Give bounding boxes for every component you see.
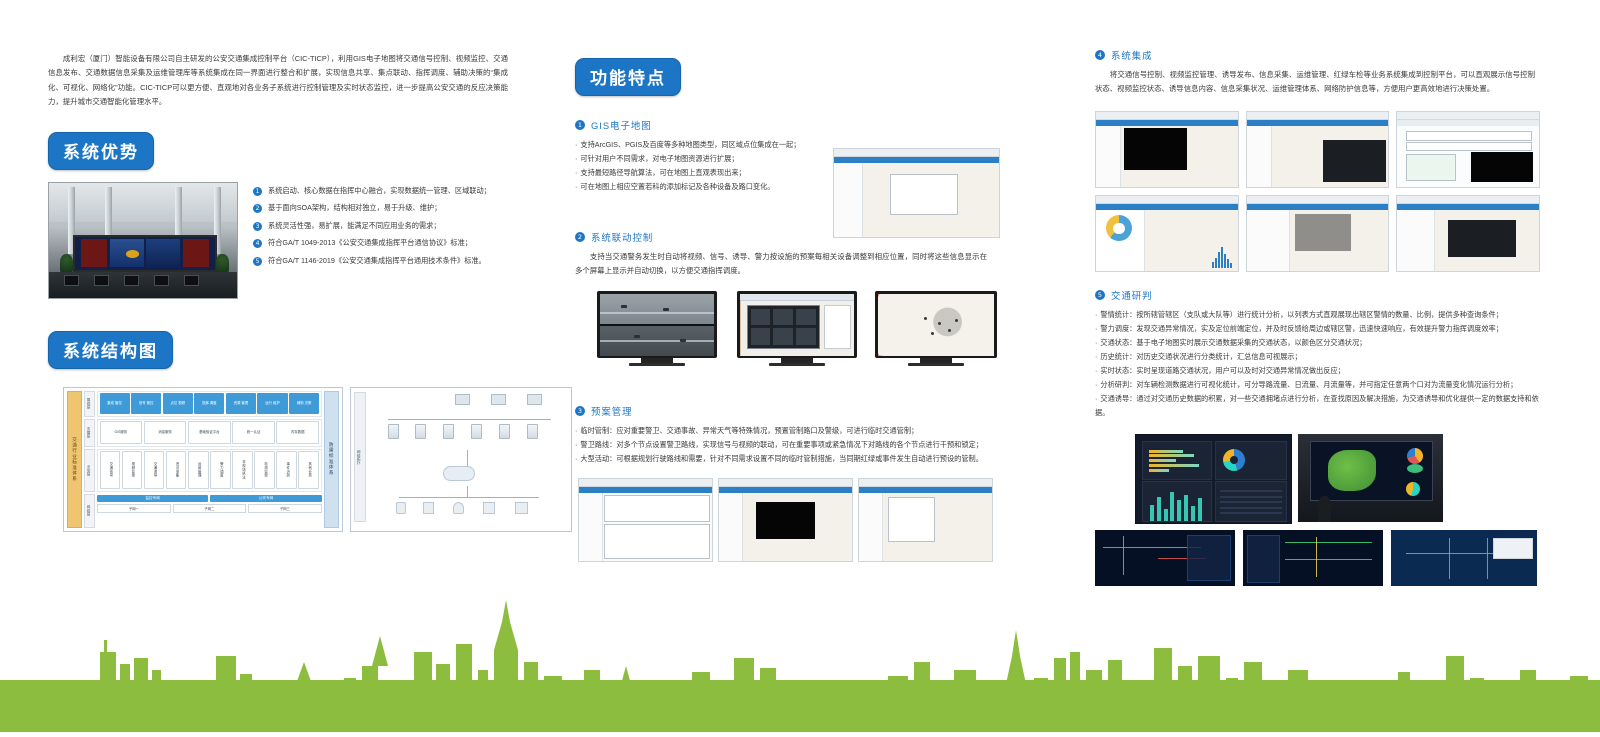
h-bar [1149, 464, 1199, 467]
layer-cell: 警力调度 [210, 451, 231, 489]
topology-bus [399, 497, 538, 498]
section-header: 5 交通研判 [1095, 288, 1540, 302]
video-wall [73, 235, 216, 272]
browser-chrome [1397, 196, 1539, 204]
left-pane [1397, 210, 1435, 271]
layer-cell: 辅助 决策 [289, 393, 319, 414]
layer-cell: 违法采集 [166, 451, 187, 489]
data-table [604, 524, 710, 559]
screenshot-phase-config [1396, 111, 1540, 188]
subnet-cell: 子网一 [97, 504, 171, 513]
screenshot-video-monitor [1246, 111, 1390, 188]
h-bar [1149, 450, 1183, 453]
layer-cells: GIS服务 消息服务 基础验证平台 统一认证 内存数据 [97, 419, 322, 447]
video-panel [1323, 140, 1385, 181]
section-number: 1 [575, 120, 585, 130]
monitor-control-ui [737, 291, 857, 366]
bullet-item: 支持ArcGIS、PGIS及百度等多种地图类型，同区域点位集成在一起； [575, 138, 835, 152]
layer-cell: 运维管理 [188, 451, 209, 489]
settings-popup [888, 497, 935, 542]
section-header: 1 GIS电子地图 [575, 118, 835, 132]
table-row [1220, 501, 1281, 503]
vehicle [634, 335, 640, 338]
browser-chrome [1247, 196, 1389, 204]
ceiling [49, 183, 237, 222]
map-marker [948, 329, 951, 332]
section-number: 4 [1095, 50, 1105, 60]
brochure-page: 成利宏（厦门）智能设备有限公司自主研发的公安交通集成控制平台（CIC-TICP）… [0, 0, 1600, 732]
monitor-map [875, 291, 997, 366]
v-bar [1198, 498, 1202, 520]
camera-icon [453, 502, 464, 514]
wall-panel [146, 239, 179, 267]
v-bar [1177, 500, 1181, 520]
layer-cell: 指挥 调度 [194, 393, 224, 414]
monitor-screen [740, 294, 854, 356]
plant [216, 254, 229, 272]
layer-presentation: 展现层 集成 管控 信号 管控 点位 视频 指挥 调度 资源 管理 运行 维护 … [84, 391, 322, 417]
road-link [1449, 538, 1450, 579]
monitor-base [769, 363, 824, 366]
layer-cell: 集成 管控 [100, 393, 130, 414]
cctv-view [600, 294, 714, 356]
list-item: 2 基于面向SOA架构，结构相对独立，易于升级、维护； [253, 203, 538, 213]
section-header: 4 系统集成 [1095, 48, 1540, 62]
monitor-screen [878, 294, 994, 356]
bullet-item: 可在地图上相应空置若科的添加标记及各种设备及路口变化。 [575, 180, 835, 194]
info-popup [1493, 538, 1533, 559]
section-paragraph: 将交通信号控制、视频监控管理、诱导发布、信息采集、运维管理、红绿车检等业务系统集… [1095, 68, 1535, 97]
network-topology-diagram: 网络拓扑 [350, 387, 572, 532]
video-cell [751, 309, 771, 326]
data-table [604, 495, 710, 522]
bullet-item: 临时管制：应对重要警卫、交通事故、异常天气等特殊情况，预置管制路口及警级，可进行… [575, 424, 1000, 438]
device-list [1247, 210, 1291, 271]
section-plan: 3 预案管理 临时管制：应对重要警卫、交通事故、异常天气等特殊情况，预置管制路口… [575, 404, 1000, 466]
device-cluster [1295, 214, 1352, 252]
layer-network: 网络层 监控专网 公安专网 子网一 子网二 子网三 [84, 494, 322, 528]
video-cell [751, 328, 771, 345]
browser-chrome [1247, 112, 1389, 120]
v-bar [1164, 509, 1168, 521]
road-marking [600, 312, 714, 314]
layer-cell: 资源 管理 [226, 393, 256, 414]
desk-monitor [124, 275, 139, 286]
section-title: 预案管理 [591, 404, 633, 418]
subnet-row: 子网一 子网二 子网三 [97, 504, 322, 513]
bullet-item: 历史统计：对历史交通状况进行分类统计，汇总信息可视展示； [1095, 350, 1540, 364]
layer-cell: 内存数据 [276, 421, 319, 444]
topology-server [443, 424, 454, 439]
video-grid [1124, 128, 1186, 169]
section-paragraph: 支持当交通警务发生时自动将视频、信号、诱导、警力按设施的预案每相关设备调整到相应… [575, 250, 987, 279]
monitor-bezel [597, 291, 717, 358]
plant [60, 254, 73, 272]
browser-chrome [1397, 112, 1539, 120]
list-number: 4 [253, 239, 262, 248]
monitor-cctv [597, 291, 717, 366]
structure-heading: 系统结构图 [48, 331, 173, 369]
topology-pc [455, 394, 470, 405]
layer-cell: 统一认证 [232, 421, 275, 444]
dashboard-card [1215, 441, 1287, 480]
section-number: 5 [1095, 290, 1105, 300]
signal-controller [515, 502, 528, 514]
table-row [1220, 490, 1281, 492]
vehicle [621, 305, 627, 308]
topology-server [471, 424, 482, 439]
map-marker [931, 332, 934, 335]
monitor-row [575, 291, 1000, 386]
bullet-item: 支持最短路径导航算法，可在地图上直观表现出来； [575, 166, 835, 180]
topology-label: 网络拓扑 [354, 392, 366, 523]
left-pane [1247, 126, 1272, 187]
network-map-dark-1 [1095, 530, 1235, 586]
v-bar [1157, 497, 1161, 521]
road-link [1285, 542, 1372, 543]
side-panel [1187, 535, 1231, 582]
vehicle [680, 339, 686, 342]
browser-chrome [579, 479, 712, 487]
advantages-heading: 系统优势 [48, 132, 154, 170]
list-item: 1 系统启动、核心数据在指挥中心融合，实现数据统一管理、区域联动； [253, 186, 538, 196]
desk-monitor [64, 275, 79, 286]
topology-server [499, 424, 510, 439]
layer-cell: 消息服务 [144, 421, 187, 444]
footer-ground [0, 680, 1600, 732]
v-bar [1170, 492, 1174, 521]
layer-label: 网络层 [84, 494, 95, 528]
v-bar [1184, 495, 1188, 521]
layer-cell: 其他业务 [298, 451, 319, 489]
map-popup [890, 174, 958, 216]
layer-cell: 信号 管控 [131, 393, 161, 414]
list-number: 5 [253, 257, 262, 266]
gauge-chart [1407, 448, 1423, 464]
left-pane [859, 493, 883, 561]
field-device [423, 502, 434, 514]
topology-server [388, 424, 399, 439]
layer-cell: 交通信号 [100, 451, 121, 489]
monitor-screen [600, 294, 714, 356]
list-number: 3 [253, 222, 262, 231]
dashboard-analytics [1135, 434, 1292, 524]
bullet-item: 分析研判：对车辆检测数据进行可视化统计，可分导路流量、日流量、月流量等，并可指定… [1095, 378, 1540, 392]
road-link [1285, 559, 1372, 560]
table-row [1220, 496, 1281, 498]
browser-chrome [1096, 112, 1238, 120]
layered-architecture: 交通行业标准体系 展现层 集成 管控 信号 管控 点位 视频 指挥 调度 资源 … [63, 387, 343, 532]
list-text: 符合GA/T 1049-2013《公安交通集成指挥平台通信协议》标准； [268, 238, 472, 247]
layer-cell: 非现场执法 [232, 451, 253, 489]
h-bar [1149, 454, 1194, 457]
topology-server [527, 424, 538, 439]
bullet-item: 警卫路线：对多个节点设置警卫路线，实现信号与视频的联动，可在重要事项或紧急情况下… [575, 438, 1000, 452]
vehicle [663, 308, 669, 311]
footer-skyline [0, 600, 1600, 732]
topology-bus [388, 419, 551, 420]
desk-monitor [94, 275, 109, 286]
left-pane [1096, 126, 1121, 187]
section-title: 系统集成 [1111, 48, 1153, 62]
intersection-diagram [756, 502, 815, 539]
subnet-cell: 子网三 [248, 504, 322, 513]
plan-screenshot-diagram [718, 478, 853, 562]
layer-cell: GIS服务 [100, 421, 143, 444]
network-map-dark-3 [1391, 530, 1537, 586]
layer-label: 业务层 [84, 449, 95, 492]
left-column: 成利宏（厦门）智能设备有限公司自主研发的公安交通集成控制平台（CIC-TICP）… [48, 52, 538, 537]
topology-pc [491, 394, 506, 405]
subnet-cell: 子网二 [173, 504, 247, 513]
video-cell [796, 328, 816, 345]
list-item: 4 符合GA/T 1049-2013《公安交通集成指挥平台通信协议》标准； [253, 238, 538, 248]
network-bar: 公安专网 [210, 495, 321, 502]
plan-screenshot-map [858, 478, 993, 562]
view-split [600, 324, 714, 326]
video-cell [773, 309, 793, 326]
video-cell [796, 309, 816, 326]
road-link [1487, 538, 1488, 579]
map-marker [938, 322, 941, 325]
control-ui-view [740, 294, 854, 356]
layer-cell: 交通诱导 [144, 451, 165, 489]
ui-video-panel [747, 305, 820, 349]
layer-support: 支撑层 GIS服务 消息服务 基础验证平台 统一认证 内存数据 [84, 419, 322, 447]
donut-chart [1223, 449, 1245, 471]
section-title: GIS电子地图 [591, 118, 652, 132]
features-heading-wrap: 功能特点 [575, 58, 1000, 96]
list-text: 系统启动、核心数据在指挥中心融合，实现数据统一管理、区域联动； [268, 186, 491, 195]
side-panel [1247, 535, 1280, 583]
topology-server [415, 424, 426, 439]
province-map [1328, 450, 1377, 491]
form-row [1406, 142, 1533, 152]
section-number: 3 [575, 406, 585, 416]
list-number: 1 [253, 187, 262, 196]
phase-list [1406, 154, 1456, 182]
gauge-chart [1406, 482, 1420, 496]
right-column: 4 系统集成 将交通信号控制、视频监控管理、诱导发布、信息采集、运维管理、红绿车… [1095, 48, 1540, 589]
v-bar [1191, 506, 1195, 521]
structure-diagram-wrap: 交通行业标准体系 展现层 集成 管控 信号 管控 点位 视频 指挥 调度 资源 … [48, 387, 538, 537]
topology-pc [527, 394, 542, 405]
desk-monitor [184, 275, 199, 286]
table-row [1220, 512, 1281, 514]
section-gis: 1 GIS电子地图 支持ArcGIS、PGIS及百度等多种地图类型，同区域点位集… [575, 118, 1000, 218]
browser-chrome [719, 479, 852, 487]
network-bars: 监控专网 公安专网 [97, 495, 322, 502]
command-center-photo [48, 182, 238, 299]
left-standard-band: 交通行业标准体系 [67, 391, 82, 528]
browser-chrome [1096, 196, 1238, 204]
features-heading: 功能特点 [575, 58, 681, 96]
dashboard-card [1215, 481, 1287, 522]
bullet-item: 可针对用户不同需求，对电子地图资源进行扩展； [575, 152, 835, 166]
bullet-item: 警情统计：按所辖管辖区（支队或大队等）进行统计分析，以列表方式直观展现出辖区警情… [1095, 308, 1540, 322]
map-view [878, 294, 994, 356]
monitor-base [908, 363, 964, 366]
architecture-layers: 展现层 集成 管控 信号 管控 点位 视频 指挥 调度 资源 管理 运行 维护 … [82, 391, 324, 528]
layer-cells: 集成 管控 信号 管控 点位 视频 指挥 调度 资源 管理 运行 维护 辅助 决… [97, 391, 322, 417]
gis-map-screenshot [833, 148, 1000, 238]
layer-business: 业务层 交通信号 视频监控 交通诱导 违法采集 运维管理 警力调度 非现场执法 … [84, 449, 322, 492]
bullet-item: 交通状态：基于电子地图实时展示交通数据采集的交通状态，以颜色区分交通状况； [1095, 336, 1540, 350]
section-title: 交通研判 [1111, 288, 1153, 302]
map-marker [955, 319, 958, 322]
left-pane [834, 163, 863, 237]
network-map-dark-2 [1243, 530, 1383, 586]
advantages-list: 1 系统启动、核心数据在指挥中心融合，实现数据统一管理、区域联动； 2 基于面向… [253, 186, 538, 274]
screenshot-statistics [1095, 195, 1239, 272]
person-silhouette [1318, 496, 1331, 522]
led-wall-photo [1298, 434, 1443, 522]
video-cell [773, 328, 793, 345]
bullet-item: 交通诱导：通过对交通历史数据的积累，对一些交通拥堵点进行分析，在查找原因及解决措… [1095, 392, 1540, 420]
layer-cell: 事件识别 [276, 451, 297, 489]
section-title: 系统联动控制 [591, 230, 653, 244]
bar-chart [1212, 246, 1232, 268]
list-number: 2 [253, 204, 262, 213]
browser-chrome [859, 479, 992, 487]
list-item: 5 符合GA/T 1146-2019《公安交通集成指挥平台通用技术条件》标准。 [253, 256, 538, 266]
road-link [1123, 536, 1124, 575]
field-device [396, 502, 406, 514]
intro-paragraph: 成利宏（厦门）智能设备有限公司自主研发的公安交通集成控制平台（CIC-TICP）… [48, 52, 508, 110]
layer-cell: 运行 维护 [257, 393, 287, 414]
screenshot-device-network [1246, 195, 1390, 272]
desk-monitor [154, 275, 169, 286]
layer-cell: 检测监控 [254, 451, 275, 489]
v-bar [1150, 505, 1154, 520]
cloud-icon [443, 466, 475, 481]
h-bar [1149, 469, 1169, 472]
layer-cells: 交通信号 视频监控 交通诱导 违法采集 运维管理 警力调度 非现场执法 检测监控… [97, 449, 322, 492]
bullet-item: 警力调度：发现交通异常情况，实及定位前端定位，并及时反馈给周边或辖区警，迅速快速… [1095, 322, 1540, 336]
monitor-base [629, 363, 684, 366]
list-item: 3 系统灵活性强，易扩展，能满足不同应用业务的需求； [253, 221, 538, 231]
layer-label: 展现层 [84, 391, 95, 417]
right-standard-band: 防雷标准体系 [324, 391, 339, 528]
left-pane [719, 493, 743, 561]
road-marking [600, 340, 714, 342]
wall-panel [183, 239, 209, 267]
structure-heading-wrap: 系统结构图 [48, 331, 538, 369]
advantages-block: 1 系统启动、核心数据在指挥中心融合，实现数据统一管理、区域联动； 2 基于面向… [48, 182, 538, 307]
bullet-item: 实时状态：实时呈现道路交通状况，用户可以及时对交通异常情况做出反应； [1095, 364, 1540, 378]
led-wall [1310, 441, 1434, 501]
network-bar: 监控专网 [97, 495, 208, 502]
dashboard-card [1142, 481, 1212, 522]
section-header: 3 预案管理 [575, 404, 1000, 418]
monitor-bezel [875, 291, 997, 358]
ui-side-panel [824, 305, 851, 349]
layer-cell: 视频监控 [122, 451, 143, 489]
left-pane [579, 493, 603, 561]
layer-label: 支撑层 [84, 419, 95, 447]
integration-screenshot-grid [1095, 111, 1540, 272]
screenshot-signal-control [1095, 111, 1239, 188]
advantages-heading-wrap: 系统优势 [48, 132, 538, 170]
road-link-warning [1316, 537, 1317, 577]
system-structure-diagram: 交通行业标准体系 展现层 集成 管控 信号 管控 点位 视频 指挥 调度 资源 … [63, 387, 483, 532]
list-text: 基于面向SOA架构，结构相对独立，易于升级、维护； [268, 203, 441, 212]
screenshot-live-video [1396, 195, 1540, 272]
field-device [483, 502, 495, 514]
h-bar [1149, 459, 1176, 462]
video-window [1448, 220, 1516, 258]
phase-preview [1471, 152, 1533, 182]
table-row [1220, 507, 1281, 509]
map-marker [924, 317, 927, 320]
list-text: 系统灵活性强，易扩展，能满足不同应用业务的需求； [268, 221, 441, 230]
mid-column: 功能特点 1 GIS电子地图 支持ArcGIS、PGIS及百度等多种地图类型，同… [575, 58, 1000, 563]
section-traffic-analysis: 5 交通研判 警情统计：按所辖管辖区（支队或大队等）进行统计分析，以列表方式直观… [1095, 288, 1540, 420]
plan-screenshot-list [578, 478, 713, 562]
plan-screenshot-row [575, 478, 1000, 563]
layer-cell: 基础验证平台 [188, 421, 231, 444]
list-text: 符合GA/T 1146-2019《公安交通集成指挥平台通用技术条件》标准。 [268, 256, 486, 265]
dashboard-gallery [1095, 434, 1540, 589]
browser-chrome [834, 149, 999, 157]
layer-cell: 点位 视频 [163, 393, 193, 414]
section-number: 2 [575, 232, 585, 242]
form-row [1406, 131, 1533, 141]
monitor-bezel [737, 291, 857, 358]
gauge-chart [1407, 464, 1423, 473]
topology-canvas [368, 392, 567, 527]
wall-panel [81, 239, 107, 267]
dashboard-card [1142, 441, 1212, 480]
topology-link [467, 486, 468, 497]
bullet-item: 大型活动：可根据规划行驶路线和需要，针对不同需求设置不同的临时管制措施，当同期红… [575, 452, 1000, 466]
